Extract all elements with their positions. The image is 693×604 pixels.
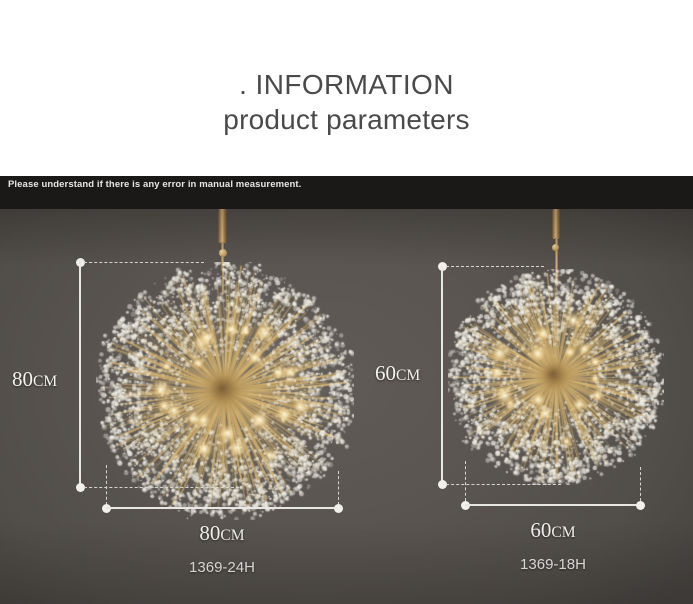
dim-leader-right-right-vert: [640, 467, 641, 501]
page-title-primary: . INFORMATION: [0, 68, 693, 102]
dim-leader-right-vert: [338, 471, 339, 505]
dim-label-height-left: 80CM: [12, 367, 57, 392]
dim-line-height-right: [441, 266, 443, 484]
product-left: 80CM 80CM 1369-24H: [0, 209, 400, 604]
dim-dot-left-width-end: [334, 504, 343, 513]
disclaimer-text: Please understand if there is any error …: [8, 179, 428, 191]
dim-line-width-left: [106, 507, 338, 509]
dim-leader-right-left-vert: [465, 461, 466, 501]
product-photo-stage: 80CM 80CM 1369-24H 60CM: [0, 209, 693, 604]
chandelier-sphere-left: [96, 262, 354, 520]
rod-knob-left: [219, 249, 227, 257]
dim-leader-top-left: [84, 262, 204, 263]
dim-label-width-left: 80CM: [122, 521, 322, 546]
title-block: . INFORMATION product parameters: [0, 68, 693, 138]
disclaimer-bar: Please understand if there is any error …: [0, 176, 693, 209]
product-spec-image: . INFORMATION product parameters Please …: [0, 0, 693, 604]
product-right: 60CM 60CM 1369-18H: [400, 209, 693, 604]
dim-leader-bottom-right: [446, 484, 561, 485]
dim-label-height-right: 60CM: [375, 361, 420, 386]
dim-line-height-left: [79, 262, 81, 487]
dim-leader-bottom-left: [84, 487, 239, 488]
canopy-right: [552, 209, 560, 239]
canopy-left: [218, 209, 227, 243]
rod-knob-right: [552, 244, 559, 251]
dim-leader-top-right: [446, 266, 544, 267]
page-title-secondary: product parameters: [0, 102, 693, 138]
dim-leader-left-vert: [106, 465, 107, 505]
dim-label-width-right: 60CM: [472, 518, 634, 543]
model-label-right: 1369-18H: [472, 556, 634, 573]
header-section: . INFORMATION product parameters: [0, 0, 693, 176]
dim-line-width-right: [465, 504, 640, 506]
model-label-left: 1369-24H: [122, 559, 322, 576]
chandelier-sphere-right: [448, 269, 664, 485]
dim-dot-right-width-end: [636, 501, 645, 510]
